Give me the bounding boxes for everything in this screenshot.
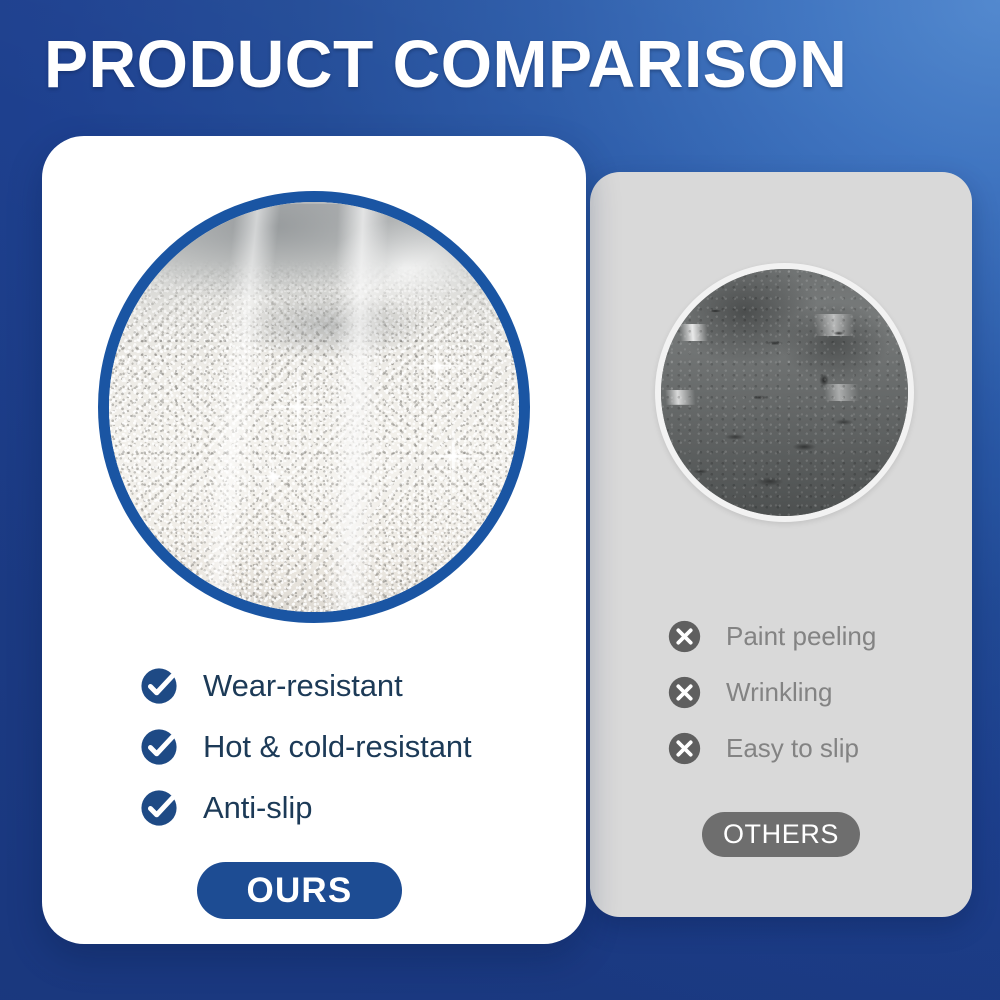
list-item: Wear-resistant	[140, 655, 540, 716]
list-item-label: Wear-resistant	[203, 668, 403, 704]
list-item-label: Easy to slip	[726, 733, 859, 764]
ours-feature-list: Wear-resistant Hot & cold-resistant Anti…	[140, 655, 540, 838]
page-title: PRODUCT COMPARISON	[44, 24, 950, 106]
others-drawback-list: Paint peeling Wrinkling Easy to slip	[668, 608, 958, 776]
x-circle-icon	[668, 732, 701, 765]
x-circle-icon	[668, 620, 701, 653]
list-item: Paint peeling	[668, 608, 958, 664]
list-item-label: Wrinkling	[726, 677, 832, 708]
ours-badge: OURS	[197, 862, 402, 919]
list-item: Hot & cold-resistant	[140, 716, 540, 777]
check-circle-icon	[140, 789, 178, 827]
ours-photo	[98, 191, 530, 623]
list-item-label: Anti-slip	[203, 790, 312, 826]
list-item-label: Hot & cold-resistant	[203, 729, 472, 765]
ours-photo-gloss	[109, 202, 519, 612]
check-circle-icon	[140, 728, 178, 766]
ours-card: Wear-resistant Hot & cold-resistant Anti…	[42, 136, 586, 944]
check-circle-icon	[140, 667, 178, 705]
list-item: Easy to slip	[668, 720, 958, 776]
others-badge: OTHERS	[702, 812, 860, 857]
list-item: Anti-slip	[140, 777, 540, 838]
x-circle-icon	[668, 676, 701, 709]
others-photo-grain	[661, 269, 908, 516]
list-item-label: Paint peeling	[726, 621, 876, 652]
list-item: Wrinkling	[668, 664, 958, 720]
others-photo	[655, 263, 914, 522]
others-panel: Paint peeling Wrinkling Easy to slip OTH…	[590, 172, 972, 917]
